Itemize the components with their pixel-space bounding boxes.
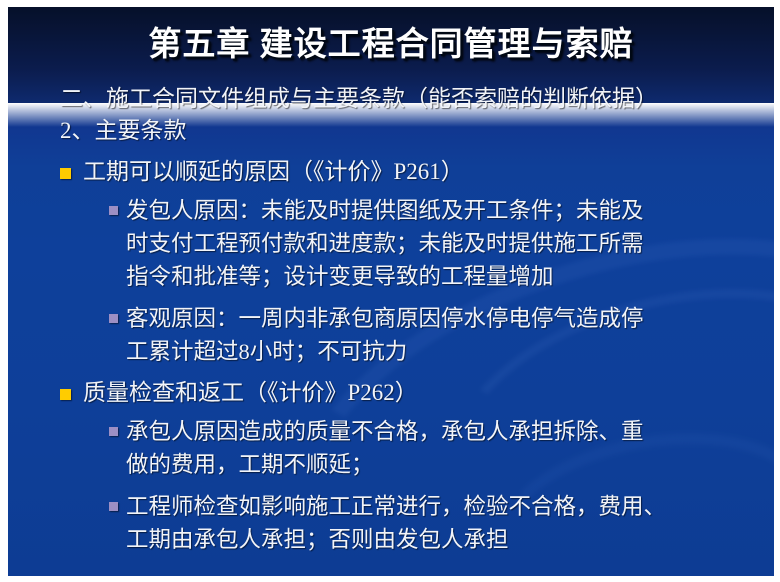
slide-canvas: 第五章 建设工程合同管理与索赔 二、施工合同文件组成与主要条款（能否索赔的判断依…	[8, 7, 774, 576]
sub-bullet-line: 指令和批准等；设计变更导致的工程量增加	[126, 260, 752, 293]
spacer	[8, 147, 774, 156]
sub-bullet-item-engineer-inspection: 工程师检查如影响施工正常进行，检验不合格，费用、 工期由承包人承担；否则由发包人…	[8, 490, 774, 556]
slide-frame: 第五章 建设工程合同管理与索赔 二、施工合同文件组成与主要条款（能否索赔的判断依…	[0, 0, 780, 582]
slide-title: 第五章 建设工程合同管理与索赔	[8, 25, 774, 65]
sub-bullet-line: 工累计超过8小时；不可抗力	[126, 335, 752, 368]
spacer	[8, 368, 774, 377]
sub-bullet-line: 发包人原因：未能及时提供图纸及开工条件；未能及	[126, 194, 752, 227]
sub-bullet-line: 时支付工程预付款和进度款；未能及时提供施工所需	[126, 227, 752, 260]
bullet-item-label: 工期可以顺延的原因（《计价》P261）	[83, 159, 464, 184]
bullet-item-label: 质量检查和返工（《计价》P262）	[83, 380, 418, 405]
square-bullet-icon	[109, 427, 118, 436]
sub-bullet-item-contractor-caused-defects: 承包人原因造成的质量不合格，承包人承担拆除、重 做的费用，工期不顺延；	[8, 415, 774, 481]
square-bullet-icon	[60, 168, 71, 179]
sub-bullet-line: 做的费用，工期不顺延；	[126, 448, 752, 481]
sub-bullet-line: 工期由承包人承担；否则由发包人承担	[126, 523, 752, 556]
section-heading: 二、施工合同文件组成与主要条款（能否索赔的判断依据）	[8, 83, 774, 115]
square-bullet-icon	[109, 206, 118, 215]
square-bullet-icon	[60, 389, 71, 400]
spacer	[8, 481, 774, 490]
square-bullet-icon	[109, 502, 118, 511]
slide-body: 二、施工合同文件组成与主要条款（能否索赔的判断依据） 2、主要条款 工期可以顺延…	[8, 83, 774, 556]
sub-bullet-item-employer-causes: 发包人原因：未能及时提供图纸及开工条件；未能及 时支付工程预付款和进度款；未能及…	[8, 194, 774, 293]
bullet-item-quality-inspection-rework: 质量检查和返工（《计价》P262）	[8, 377, 774, 409]
sub-bullet-line: 工程师检查如影响施工正常进行，检验不合格，费用、	[126, 490, 752, 523]
sub-bullet-item-objective-causes: 客观原因：一周内非承包商原因停水停电停气造成停 工累计超过8小时；不可抗力	[8, 302, 774, 368]
spacer	[8, 293, 774, 302]
section-subheading: 2、主要条款	[8, 115, 774, 147]
square-bullet-icon	[109, 314, 118, 323]
sub-bullet-line: 承包人原因造成的质量不合格，承包人承担拆除、重	[126, 415, 752, 448]
bullet-item-work-period-extension: 工期可以顺延的原因（《计价》P261）	[8, 156, 774, 188]
sub-bullet-line: 客观原因：一周内非承包商原因停水停电停气造成停	[126, 302, 752, 335]
